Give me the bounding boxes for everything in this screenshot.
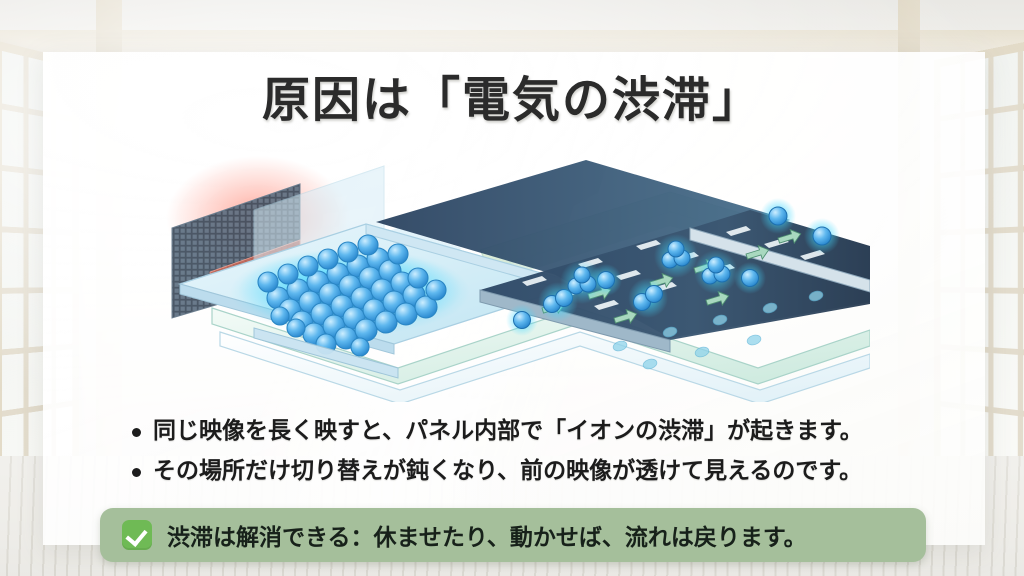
page-title: 原因は「電気の渋滞」 <box>0 60 1024 130</box>
checkmark-icon <box>122 520 152 550</box>
panel-illustration <box>150 132 870 402</box>
list-item: その場所だけ切り替えが鈍くなり、前の映像が透けて見えるのです。 <box>132 456 912 487</box>
bullet-list: 同じ映像を長く映すと、パネル内部で「イオンの渋滞」が起きます。 その場所だけ切り… <box>132 416 912 496</box>
callout-text: 渋滞は解消できる：休ませたり、動かせば、流れは戻ります。 <box>167 518 807 552</box>
bullet-dot-icon <box>132 428 141 437</box>
list-item: 同じ映像を長く映すと、パネル内部で「イオンの渋滞」が起きます。 <box>132 416 912 447</box>
bullet-dot-icon <box>132 468 141 477</box>
bullet-text: 同じ映像を長く映すと、パネル内部で「イオンの渋滞」が起きます。 <box>153 416 863 447</box>
callout-banner: 渋滞は解消できる：休ませたり、動かせば、流れは戻ります。 <box>100 508 926 562</box>
bullet-text: その場所だけ切り替えが鈍くなり、前の映像が透けて見えるのです。 <box>153 456 862 487</box>
slide-stage: 原因は「電気の渋滞」 <box>0 0 1024 576</box>
